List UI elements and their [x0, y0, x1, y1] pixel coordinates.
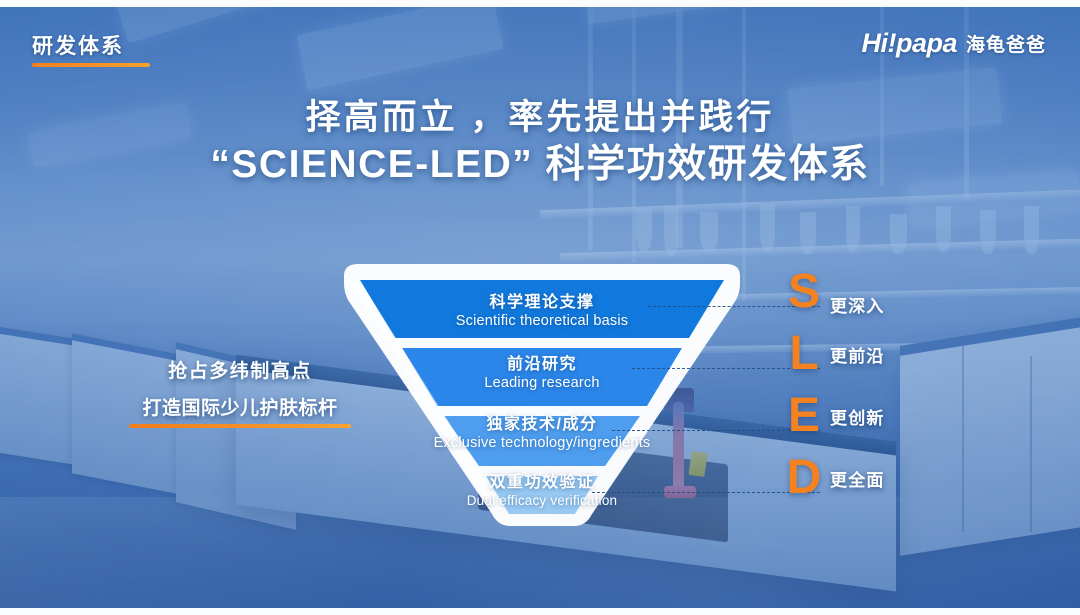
left-statement-underline	[129, 424, 351, 428]
benefit-label-2: 更前沿	[830, 342, 940, 404]
brand-logo: Hi!papa 海龟爸爸	[861, 28, 1046, 59]
page-title-line2: “SCIENCE-LED” 科学功效研发体系	[0, 141, 1080, 189]
section-eyebrow: 研发体系	[32, 30, 150, 67]
brand-logo-cjk: 海龟爸爸	[966, 30, 1046, 59]
slide-top-edge-strip	[0, 0, 1080, 7]
page-title-line1: 择高而立 ，率先提出并践行	[0, 98, 1080, 139]
sled-letter-d: D	[778, 454, 830, 502]
funnel-band-1	[360, 280, 724, 338]
slide-bottom-edge-strip	[0, 608, 1080, 615]
slide-content: 研发体系 Hi!papa 海龟爸爸 择高而立 ，率先提出并践行 “SCIENCE…	[0, 0, 1080, 615]
benefit-label-4: 更全面	[830, 466, 940, 528]
funnel-band-2	[402, 348, 682, 406]
sled-acronym: S L E D	[778, 268, 830, 502]
slide-canvas: 研发体系 Hi!papa 海龟爸爸 择高而立 ，率先提出并践行 “SCIENCE…	[0, 0, 1080, 615]
sled-letter-l: L	[778, 330, 830, 378]
sled-letter-s: S	[778, 268, 830, 316]
left-statement: 抢占多纬制高点 打造国际少儿护肤标杆	[120, 356, 360, 428]
page-title: 择高而立 ，率先提出并践行 “SCIENCE-LED” 科学功效研发体系	[0, 98, 1080, 188]
benefit-label-1: 更深入	[830, 280, 940, 342]
benefit-label-3: 更创新	[830, 404, 940, 466]
brand-logo-latin: Hi!papa	[861, 28, 957, 59]
benefit-label-list: 更深入 更前沿 更创新 更全面	[830, 280, 940, 528]
left-statement-line1: 抢占多纬制高点	[120, 356, 360, 383]
left-statement-line2: 打造国际少儿护肤标杆	[120, 393, 360, 420]
section-eyebrow-label: 研发体系	[32, 30, 150, 60]
section-eyebrow-underline	[32, 63, 150, 67]
sled-letter-e: E	[778, 392, 830, 440]
